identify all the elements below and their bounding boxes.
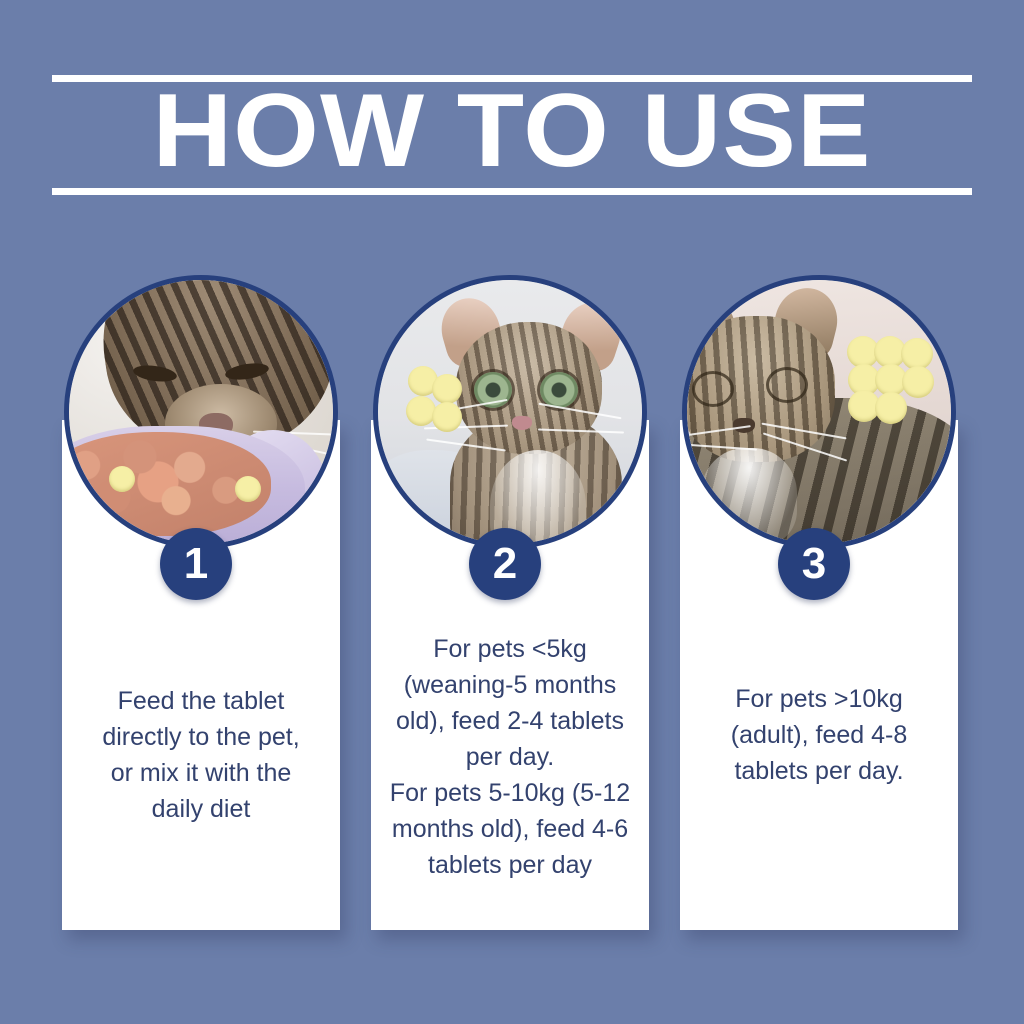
step-badge-3: 3 [778,528,850,600]
tablet [902,366,934,398]
kitten-nose [512,416,532,430]
cat-chest [701,448,797,544]
tablet [432,374,462,404]
tablet [875,392,907,424]
step-badge-2: 2 [469,528,541,600]
cat-eye-left [695,374,731,404]
cat-eye-right [769,370,805,400]
page-title: HOW TO USE [24,77,999,187]
tablet [109,466,135,492]
kitten-eye-right [540,372,578,408]
step-2-photo [373,275,647,549]
step-1-description: Feed the tablet directly to the pet, or … [78,683,324,827]
title-rule-bottom [52,188,972,195]
step-3-description: For pets >10kg (adult), feed 4-8 tablets… [696,681,942,789]
step-2-description: For pets <5kg (weaning-5 months old), fe… [387,631,633,883]
poster-header: HOW TO USE [52,66,972,196]
tablet [406,396,436,426]
step-1-photo-image [69,280,333,544]
step-3-photo-image [687,280,951,544]
step-2-photo-image [378,280,642,544]
step-badge-1: 1 [160,528,232,600]
tablet [432,402,462,432]
how-to-use-poster: HOW TO USE Feed the tablet directly to t… [0,0,1024,1024]
step-3-photo [682,275,956,549]
step-1-photo [64,275,338,549]
tablet [235,476,261,502]
